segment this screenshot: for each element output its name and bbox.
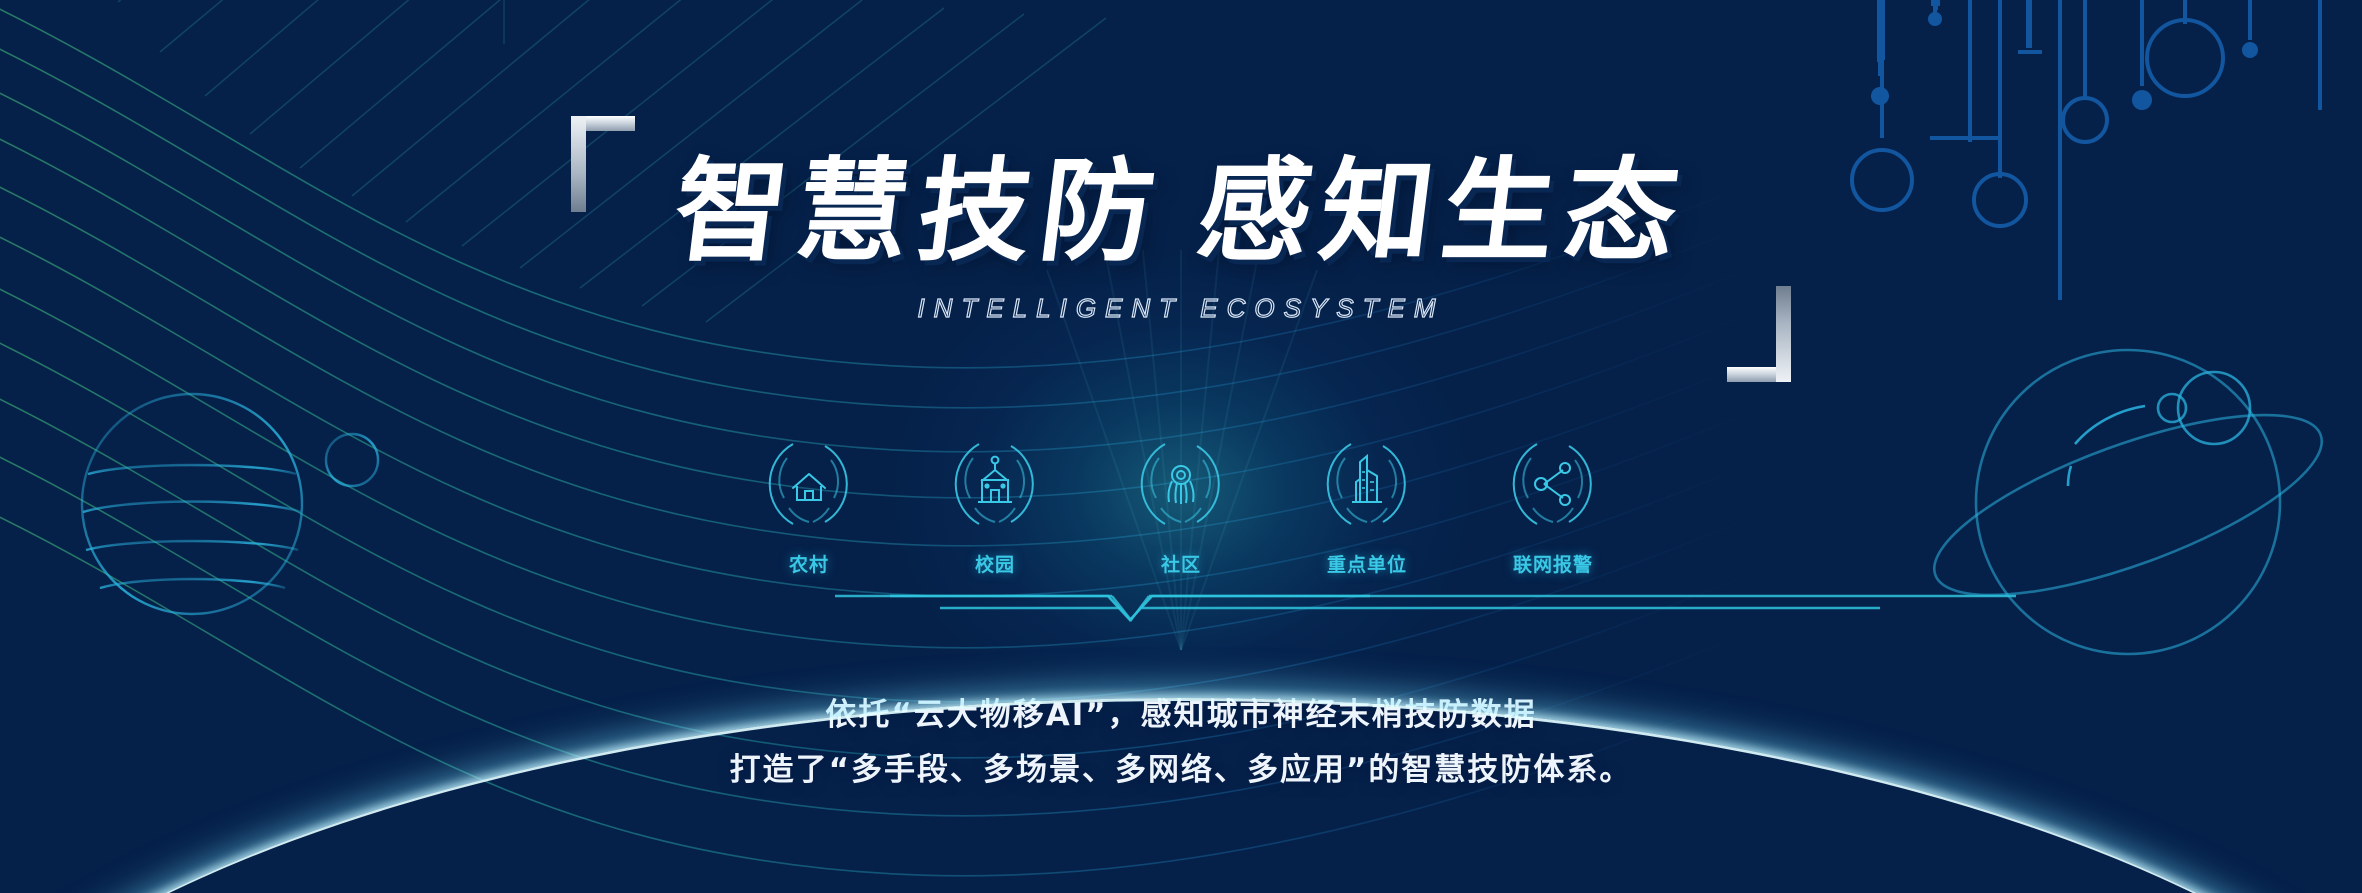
caption-line-1: 依托“云大物移AI”，感知城市神经末梢技防数据 [0,688,2362,743]
bracket-top-left-icon [571,116,635,212]
network-share-icon [1501,432,1605,536]
category-item-campus[interactable]: 校园 [934,432,1056,577]
headline-wrapper: 智慧技防感知生态 INTELLIGENT ECOSYSTEM [589,150,1773,324]
category-icon-row: 农村 [0,432,2362,577]
community-icon [1129,432,1233,536]
category-item-key-units[interactable]: 重点单位 [1306,432,1428,577]
category-label: 重点单位 [1306,550,1428,577]
house-icon [757,432,861,536]
building-icon [1315,432,1419,536]
category-item-rural[interactable]: 农村 [748,432,870,577]
bracket-bottom-right-icon [1727,286,1791,382]
category-item-networked-alarm[interactable]: 联网报警 [1492,432,1614,577]
category-label: 社区 [1120,550,1242,577]
banner-root: 智慧技防感知生态 INTELLIGENT ECOSYSTEM 农村 [0,0,2362,893]
title-part-right: 感知生态 [1191,147,1695,277]
category-label: 农村 [748,550,870,577]
title-block: 智慧技防感知生态 INTELLIGENT ECOSYSTEM [0,150,2362,324]
caption-line-2: 打造了“多手段、多场景、多网络、多应用”的智慧技防体系。 [0,743,2362,798]
page-subtitle-english: INTELLIGENT ECOSYSTEM [675,293,1687,324]
category-label: 校园 [934,550,1056,577]
school-icon [943,432,1047,536]
category-label: 联网报警 [1492,550,1614,577]
category-item-community[interactable]: 社区 [1120,432,1242,577]
title-part-left: 智慧技防 [667,147,1171,277]
page-title: 智慧技防感知生态 [667,150,1694,275]
caption-block: 依托“云大物移AI”，感知城市神经末梢技防数据 打造了“多手段、多场景、多网络、… [0,688,2362,798]
section-divider [0,586,2362,630]
